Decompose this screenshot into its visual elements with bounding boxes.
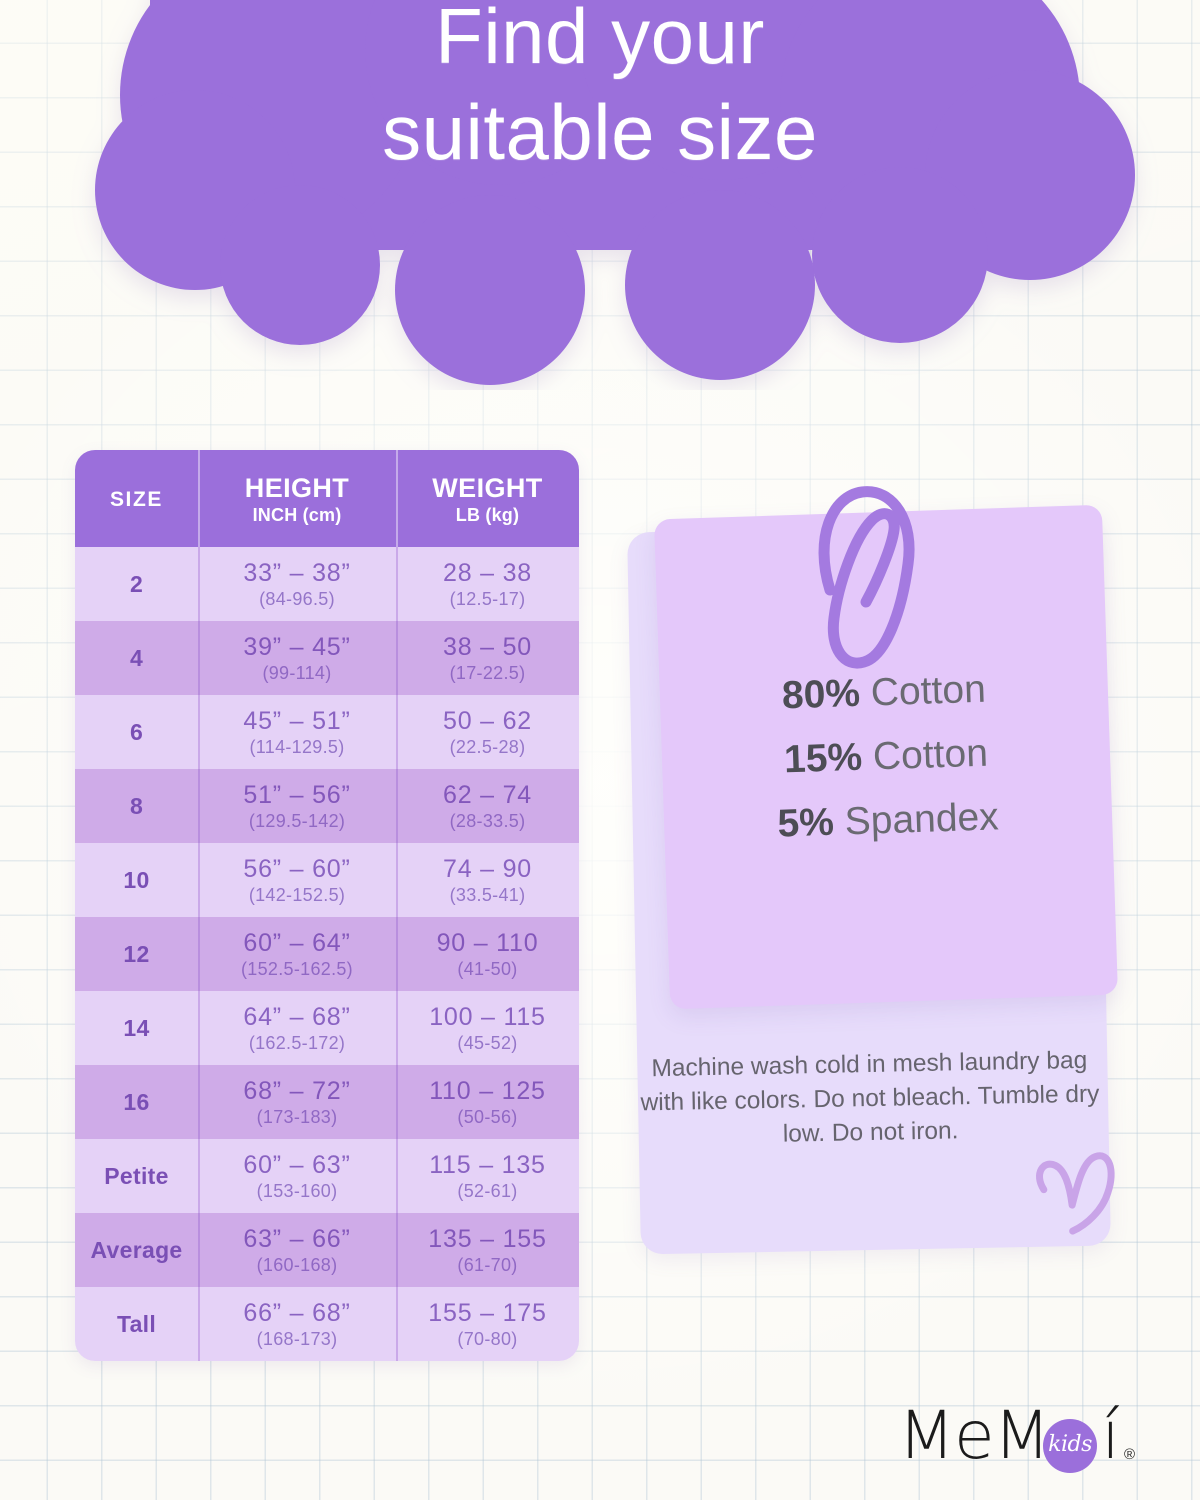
cell-size: 12 <box>75 917 198 991</box>
height-cm: (168-173) <box>257 1328 338 1350</box>
height-cm: (173-183) <box>257 1106 338 1128</box>
weight-kg: (28-33.5) <box>450 810 526 832</box>
cell-weight: 135 – 155(61-70) <box>396 1213 579 1287</box>
column-header-weight: WEIGHT LB (kg) <box>396 450 579 547</box>
height-cm: (153-160) <box>257 1180 338 1202</box>
cell-height: 64” – 68”(162.5-172) <box>198 991 396 1065</box>
height-cm: (162.5-172) <box>249 1032 345 1054</box>
weight-lb: 74 – 90 <box>443 855 532 884</box>
cell-weight: 74 – 90(33.5-41) <box>396 843 579 917</box>
weight-lb: 155 – 175 <box>428 1299 546 1328</box>
size-chart-table: SIZE HEIGHT INCH (cm) WEIGHT LB (kg) 233… <box>75 450 579 1361</box>
height-cm: (84-96.5) <box>259 588 335 610</box>
weight-kg: (12.5-17) <box>450 588 526 610</box>
height-cm: (142-152.5) <box>249 884 345 906</box>
cell-size: Petite <box>75 1139 198 1213</box>
cell-weight: 28 – 38(12.5-17) <box>396 547 579 621</box>
cell-size: 8 <box>75 769 198 843</box>
table-header-row: SIZE HEIGHT INCH (cm) WEIGHT LB (kg) <box>75 450 579 547</box>
weight-lb: 50 – 62 <box>443 707 532 736</box>
weight-lb: 90 – 110 <box>437 929 539 958</box>
table-row: 1056” – 60”(142-152.5)74 – 90(33.5-41) <box>75 843 579 917</box>
cell-weight: 90 – 110(41-50) <box>396 917 579 991</box>
cell-size: 16 <box>75 1065 198 1139</box>
height-inches: 56” – 60” <box>243 855 350 884</box>
column-header-size-label: SIZE <box>110 488 163 512</box>
size-value: 6 <box>130 719 143 746</box>
composition-percent: 15% <box>783 736 862 782</box>
cell-size: 2 <box>75 547 198 621</box>
cell-size: 10 <box>75 843 198 917</box>
height-inches: 60” – 63” <box>243 1151 350 1180</box>
size-value: 12 <box>123 941 149 968</box>
registered-trademark-symbol: ® <box>1124 1446 1135 1463</box>
table-row: 645” – 51”(114-129.5)50 – 62(22.5-28) <box>75 695 579 769</box>
height-inches: 64” – 68” <box>243 1003 350 1032</box>
cell-weight: 62 – 74(28-33.5) <box>396 769 579 843</box>
weight-kg: (52-61) <box>457 1180 517 1202</box>
height-inches: 66” – 68” <box>243 1299 350 1328</box>
weight-lb: 110 – 125 <box>429 1077 546 1106</box>
table-body: 233” – 38”(84-96.5)28 – 38(12.5-17)439” … <box>75 547 579 1361</box>
cell-weight: 115 – 135(52-61) <box>396 1139 579 1213</box>
weight-lb: 135 – 155 <box>428 1225 546 1254</box>
height-cm: (99-114) <box>262 662 331 684</box>
cell-size: Tall <box>75 1287 198 1361</box>
height-inches: 63” – 66” <box>243 1225 350 1254</box>
table-row: 1260” – 64”(152.5-162.5)90 – 110(41-50) <box>75 917 579 991</box>
cell-height: 33” – 38”(84-96.5) <box>198 547 396 621</box>
height-cm: (152.5-162.5) <box>241 958 353 980</box>
kids-badge: kids <box>1043 1419 1097 1473</box>
column-header-weight-units: LB (kg) <box>456 504 519 526</box>
weight-lb: 38 – 50 <box>443 633 532 662</box>
table-row: Tall66” – 68”(168-173)155 – 175(70-80) <box>75 1287 579 1361</box>
column-header-height: HEIGHT INCH (cm) <box>198 450 396 547</box>
size-value: 8 <box>130 793 143 820</box>
weight-lb: 28 – 38 <box>443 559 532 588</box>
table-row: 439” – 45”(99-114)38 – 50(17-22.5) <box>75 621 579 695</box>
weight-lb: 115 – 135 <box>429 1151 546 1180</box>
cell-height: 51” – 56”(129.5-142) <box>198 769 396 843</box>
size-value: 10 <box>123 867 149 894</box>
cell-height: 60” – 64”(152.5-162.5) <box>198 917 396 991</box>
column-header-weight-title: WEIGHT <box>432 473 542 504</box>
cell-weight: 100 – 115(45-52) <box>396 991 579 1065</box>
weight-kg: (41-50) <box>457 958 517 980</box>
table-row: 1464” – 68”(162.5-172)100 – 115(45-52) <box>75 991 579 1065</box>
height-cm: (160-168) <box>257 1254 338 1276</box>
weight-lb: 100 – 115 <box>429 1003 546 1032</box>
size-value: 4 <box>130 645 143 672</box>
cell-height: 39” – 45”(99-114) <box>198 621 396 695</box>
height-cm: (114-129.5) <box>249 736 344 758</box>
kids-badge-label: kids <box>1048 1434 1092 1456</box>
cell-weight: 50 – 62(22.5-28) <box>396 695 579 769</box>
height-inches: 45” – 51” <box>243 707 350 736</box>
cell-size: Average <box>75 1213 198 1287</box>
weight-kg: (45-52) <box>457 1032 517 1054</box>
weight-kg: (22.5-28) <box>450 736 526 758</box>
height-inches: 68” – 72” <box>243 1077 350 1106</box>
cell-weight: 38 – 50(17-22.5) <box>396 621 579 695</box>
cell-height: 56” – 60”(142-152.5) <box>198 843 396 917</box>
weight-kg: (33.5-41) <box>450 884 526 906</box>
column-header-height-units: INCH (cm) <box>253 504 342 526</box>
cell-size: 6 <box>75 695 198 769</box>
composition-material: Cotton <box>872 732 988 779</box>
column-header-height-title: HEIGHT <box>245 473 349 504</box>
weight-kg: (70-80) <box>457 1328 517 1350</box>
cell-height: 68” – 72”(173-183) <box>198 1065 396 1139</box>
height-inches: 39” – 45” <box>243 633 350 662</box>
cell-height: 60” – 63”(153-160) <box>198 1139 396 1213</box>
size-value: Tall <box>117 1311 156 1338</box>
table-row: 851” – 56”(129.5-142)62 – 74(28-33.5) <box>75 769 579 843</box>
size-value: Average <box>90 1237 182 1264</box>
title-line-1: Find your <box>435 0 765 80</box>
heart-icon <box>1021 1142 1135 1253</box>
height-inches: 60” – 64” <box>243 929 350 958</box>
cloud-header: Find your suitable size <box>0 0 1200 390</box>
size-value: 16 <box>123 1089 149 1116</box>
cell-height: 66” – 68”(168-173) <box>198 1287 396 1361</box>
cell-size: 14 <box>75 991 198 1065</box>
weight-kg: (50-56) <box>457 1106 517 1128</box>
cell-height: 45” – 51”(114-129.5) <box>198 695 396 769</box>
table-row: 233” – 38”(84-96.5)28 – 38(12.5-17) <box>75 547 579 621</box>
table-row: Average63” – 66”(160-168)135 – 155(61-70… <box>75 1213 579 1287</box>
cell-size: 4 <box>75 621 198 695</box>
composition-item: 5% Spandex <box>777 787 1000 854</box>
size-value: Petite <box>104 1163 168 1190</box>
size-value: 14 <box>123 1015 149 1042</box>
logo-brand: MeM <box>898 1397 1050 1474</box>
cell-height: 63” – 66”(160-168) <box>198 1213 396 1287</box>
weight-lb: 62 – 74 <box>443 781 532 810</box>
height-cm: (129.5-142) <box>249 810 345 832</box>
composition-item: 15% Cotton <box>783 724 989 791</box>
height-inches: 51” – 56” <box>243 781 350 810</box>
page-title: Find your suitable size <box>0 0 1200 180</box>
care-instructions: Machine wash cold in mesh laundry bag wi… <box>639 1044 1101 1155</box>
weight-kg: (61-70) <box>457 1254 517 1276</box>
height-inches: 33” – 38” <box>243 559 350 588</box>
column-header-size: SIZE <box>75 450 198 547</box>
brand-logo: MeMí kids ® <box>898 1394 1148 1478</box>
paperclip-icon <box>798 478 930 683</box>
table-row: Petite60” – 63”(153-160)115 – 135(52-61) <box>75 1139 579 1213</box>
weight-kg: (17-22.5) <box>450 662 526 684</box>
size-value: 2 <box>130 571 143 598</box>
title-line-2: suitable size <box>0 84 1200 180</box>
cell-weight: 155 – 175(70-80) <box>396 1287 579 1361</box>
composition-material: Spandex <box>844 795 999 843</box>
composition-percent: 5% <box>777 801 835 846</box>
cell-weight: 110 – 125(50-56) <box>396 1065 579 1139</box>
table-row: 1668” – 72”(173-183)110 – 125(50-56) <box>75 1065 579 1139</box>
